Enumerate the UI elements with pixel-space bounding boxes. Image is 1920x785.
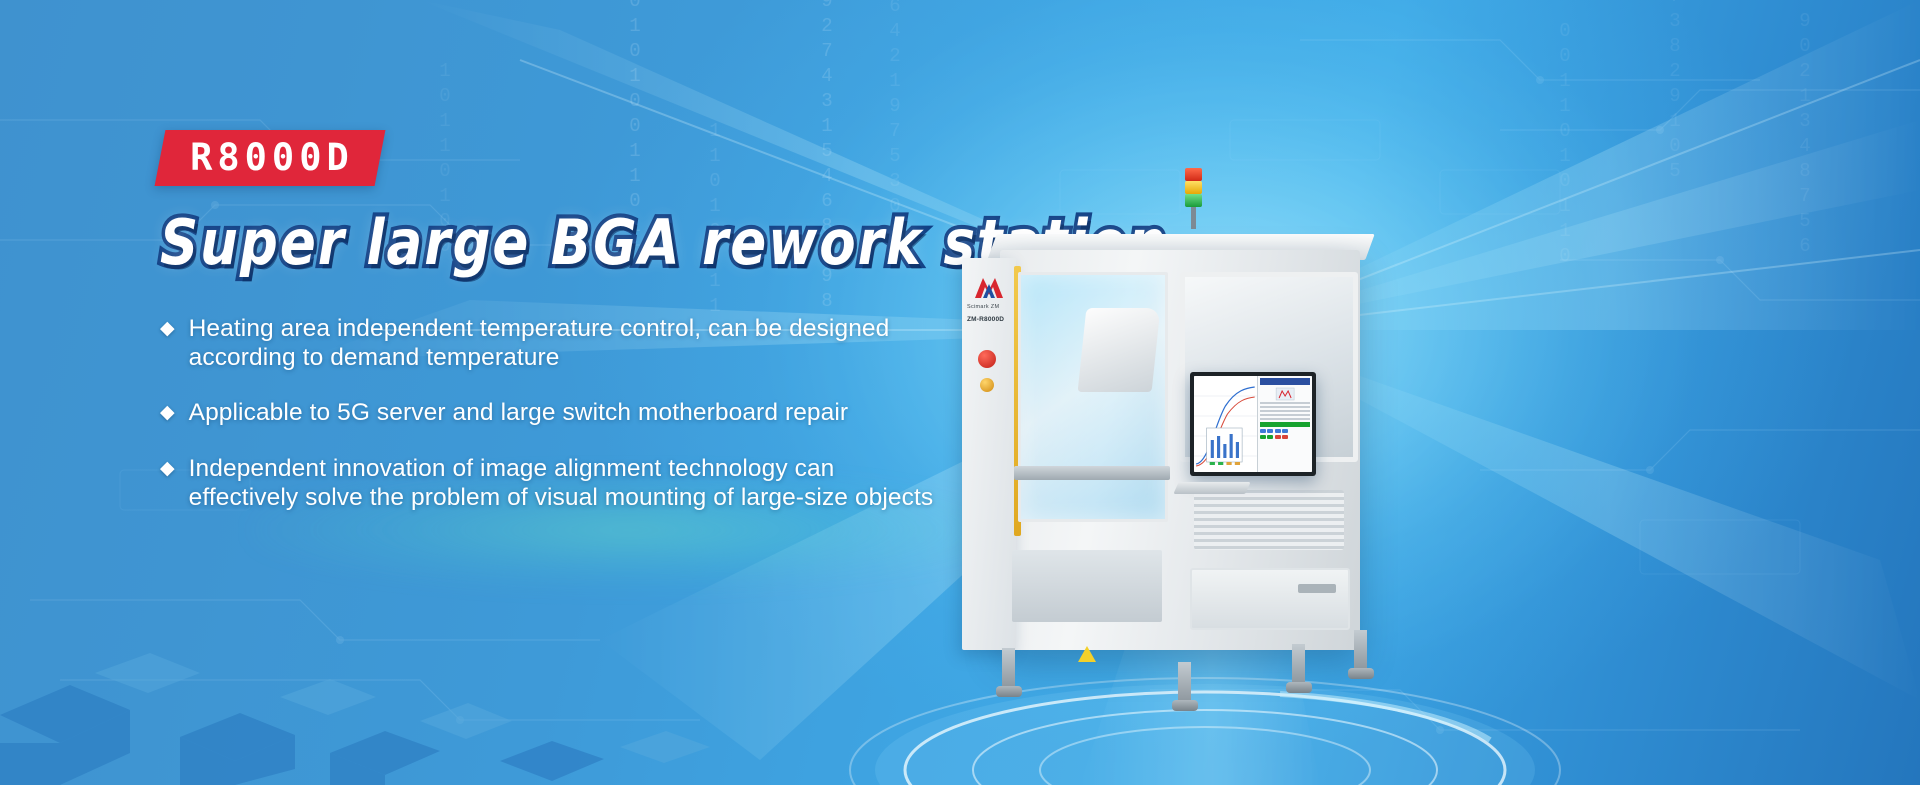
machine-vent-grille (1194, 490, 1344, 550)
list-item: ◆ Heating area independent temperature c… (160, 314, 1040, 372)
machine-leg (1002, 648, 1015, 688)
tower-lamp-yellow (1185, 181, 1202, 194)
control-panel-pane (1258, 376, 1312, 472)
machine-reflow-head (1078, 308, 1161, 392)
machine-foot (1348, 668, 1374, 679)
machine-board-holder (1012, 550, 1162, 622)
machine-legs (992, 648, 1382, 718)
list-item: ◆ Independent innovation of image alignm… (160, 454, 1040, 512)
software-title-bar (1260, 378, 1310, 385)
software-row (1260, 418, 1310, 420)
list-item-label: Heating area independent temperature con… (189, 314, 949, 372)
code-column: 9021348756 (1790, 10, 1814, 260)
product-photo-bga-rework-station: Scimark ZM ZM-R8000D (940, 150, 1500, 770)
code-column: 0011010110 (1550, 20, 1574, 270)
list-item-label: Independent innovation of image alignmen… (189, 454, 949, 512)
diamond-bullet-icon: ◆ (160, 314, 175, 344)
machine-leg (1292, 644, 1305, 684)
product-banner: 0101001101 9274315468798 110100110 86421… (0, 0, 1920, 785)
tower-lamp-green (1185, 194, 1202, 207)
feature-list: ◆ Heating area independent temperature c… (160, 314, 1040, 512)
banner-copy: R8000D Super large BGA rework station ◆ … (160, 130, 1040, 538)
machine-brand-text: Scimark ZM (967, 304, 1013, 310)
diamond-bullet-icon: ◆ (160, 398, 175, 428)
scimark-m-logo-icon (969, 274, 1009, 300)
software-row (1260, 410, 1310, 412)
software-logo-icon (1260, 387, 1310, 401)
model-badge-label: R8000D (190, 139, 354, 176)
machine-foot (996, 686, 1022, 697)
software-row (1260, 402, 1310, 404)
machine-left-column: Scimark ZM ZM-R8000D (962, 258, 1016, 650)
model-badge: R8000D (155, 130, 386, 186)
tower-pole (1191, 207, 1196, 229)
profile-curve (1194, 376, 1257, 472)
software-row (1260, 414, 1310, 416)
list-item: ◆ Applicable to 5G server and large swit… (160, 398, 1040, 428)
list-item-label: Applicable to 5G server and large switch… (189, 398, 849, 427)
drawer-handle[interactable] (1298, 584, 1336, 593)
signal-tower-light (1185, 168, 1202, 230)
temperature-profile-chart (1194, 376, 1258, 472)
machine-foot (1286, 682, 1312, 693)
emergency-stop-button[interactable] (978, 350, 996, 368)
page-title: Super large BGA rework station (160, 212, 1040, 276)
control-software-screen (1194, 376, 1312, 472)
code-column: 473829105 (1660, 0, 1684, 185)
operator-keyboard-tray[interactable] (1173, 482, 1250, 494)
software-button-row[interactable] (1260, 435, 1310, 439)
software-status-bar (1260, 422, 1310, 427)
machine-linear-rail (1014, 466, 1170, 480)
tower-lamp-red (1185, 168, 1202, 181)
machine-leg (1354, 630, 1367, 670)
machine-body: Scimark ZM ZM-R8000D (962, 250, 1392, 690)
machine-foot (1172, 700, 1198, 711)
software-row (1260, 406, 1310, 408)
machine-leg (1178, 662, 1191, 702)
machine-drawer (1190, 568, 1350, 630)
operator-monitor[interactable] (1190, 372, 1316, 476)
software-button-row[interactable] (1260, 429, 1310, 433)
diamond-bullet-icon: ◆ (160, 454, 175, 484)
status-indicator-light (980, 378, 994, 392)
machine-model-text: ZM-R8000D (967, 316, 1015, 323)
